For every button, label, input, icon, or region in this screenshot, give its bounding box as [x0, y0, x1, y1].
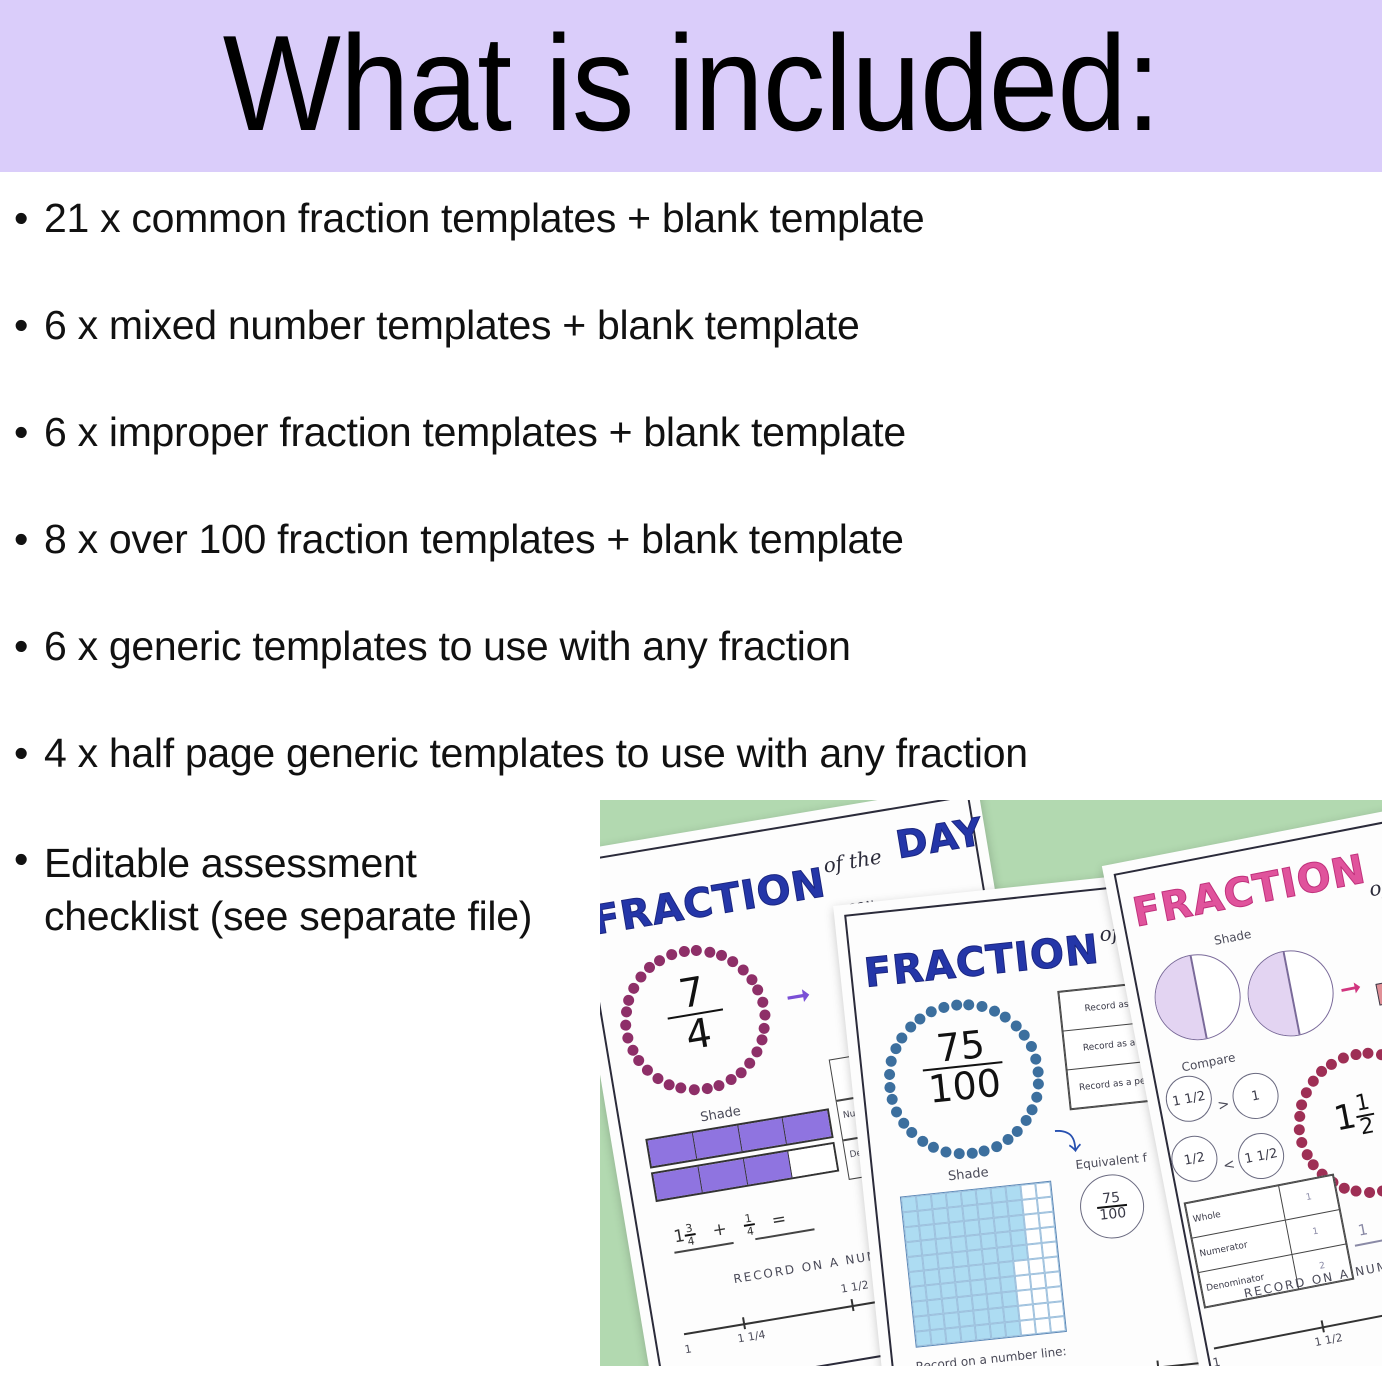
grid-cell [997, 1246, 1013, 1262]
grid-cell [932, 1208, 948, 1224]
grid-cell [939, 1267, 955, 1283]
bead-dot [884, 1081, 896, 1093]
curved-arrow-icon: ⤵ [1054, 1127, 1083, 1156]
sheet1-eq-b-den: 4 [744, 1225, 757, 1238]
bullet-marker: • [14, 837, 44, 883]
grid-cell [1016, 1289, 1032, 1305]
bead-dot [688, 1083, 701, 1096]
bullet-marker: • [14, 303, 44, 349]
grid-cell [995, 1231, 1011, 1247]
grid-cell [1005, 1321, 1021, 1337]
grid-cell [934, 1223, 950, 1239]
grid-cell [1020, 1183, 1036, 1199]
grid-cell [990, 1186, 1006, 1202]
grid-cell [1030, 1273, 1046, 1289]
grid-cell [957, 1296, 973, 1312]
bead-dot [634, 971, 647, 984]
photo-inner: FRACTION of the DAY CON PROP 7 4 ➞ Shade [600, 800, 1382, 1366]
list-item: • 6 x generic templates to use with any … [14, 624, 1194, 670]
grid-cell [937, 1252, 953, 1268]
grid-cell [998, 1261, 1014, 1277]
bead-dot [703, 946, 716, 959]
grid-cell [1012, 1245, 1028, 1261]
grid-cell [1034, 1318, 1050, 1334]
bead-dot [904, 1021, 916, 1033]
bead-dot [1030, 1053, 1042, 1065]
grid-cell [950, 1236, 966, 1252]
grid-cell [1028, 1258, 1044, 1274]
grid-cell [983, 1263, 999, 1279]
sheet3-fraction: 1 1 2 [1330, 1091, 1378, 1144]
grid-cell [927, 1299, 943, 1315]
bead-dot [940, 1145, 952, 1157]
bead-dot [925, 1006, 937, 1018]
grid-cell [1013, 1260, 1029, 1276]
bead-dot [1018, 1029, 1030, 1041]
grid-cell [936, 1238, 952, 1254]
grid-cell [1048, 1301, 1064, 1317]
grid-cell [958, 1311, 974, 1327]
grid-cell [977, 1203, 993, 1219]
grid-cell [909, 1270, 925, 1286]
bead-dot [886, 1094, 898, 1106]
bead-dot [1349, 1048, 1362, 1061]
bead-dot [1375, 1048, 1382, 1061]
sheet3-fraction-denominator: 2 [1356, 1115, 1378, 1140]
grid-cell [921, 1239, 937, 1255]
bead-dot [715, 949, 728, 962]
grid-cell [1018, 1304, 1034, 1320]
grid-cell [925, 1284, 941, 1300]
bullet-marker: • [14, 410, 44, 456]
grid-cell [922, 1254, 938, 1270]
grid-cell [919, 1224, 935, 1240]
bead-dot [916, 1135, 928, 1147]
sheet2-eqv-den: 100 [1097, 1206, 1129, 1223]
bead-dot [1337, 1052, 1350, 1065]
grid-cell [1037, 1197, 1053, 1213]
grid-cell [955, 1281, 971, 1297]
grid-cell [915, 1330, 931, 1346]
list-item-label: 6 x mixed number templates + blank templ… [44, 303, 860, 349]
bead-dot [620, 1006, 633, 1019]
bead-dot [976, 1001, 988, 1013]
bead-dot [1030, 1091, 1042, 1103]
bead-dot [675, 1082, 688, 1095]
bead-dot [1338, 1181, 1351, 1194]
grid-cell [1027, 1243, 1043, 1259]
bullet-marker: • [14, 624, 44, 670]
bead-dot [620, 1019, 633, 1032]
bead-dot [1296, 1136, 1309, 1149]
page-title: What is included: [222, 15, 1159, 151]
grid-cell [969, 1264, 985, 1280]
grid-cell [901, 1196, 917, 1212]
grid-cell [979, 1218, 995, 1234]
bead-dot [623, 993, 636, 1006]
bead-dot [1293, 1123, 1306, 1136]
bead-dot [627, 982, 640, 995]
grid-cell [952, 1251, 968, 1267]
grid-cell [1033, 1303, 1049, 1319]
grid-cell [1007, 1200, 1023, 1216]
grid-cell [947, 1206, 963, 1222]
grid-cell [1049, 1316, 1065, 1332]
grid-cell [967, 1249, 983, 1265]
grid-cell [1043, 1256, 1059, 1272]
grid-cell [982, 1248, 998, 1264]
grid-cell [973, 1309, 989, 1325]
list-item-label: 6 x generic templates to use with any fr… [44, 624, 851, 670]
list-item-label: 21 x common fraction templates + blank t… [44, 196, 924, 242]
bead-dot [1025, 1041, 1037, 1053]
bead-dot [654, 954, 667, 967]
grid-cell [940, 1282, 956, 1298]
bead-dot [950, 999, 962, 1011]
grid-cell [990, 1322, 1006, 1338]
grid-cell [975, 1324, 991, 1340]
product-photo: FRACTION of the DAY CON PROP 7 4 ➞ Shade [600, 800, 1382, 1366]
grid-cell [1020, 1319, 1036, 1335]
grid-cell [924, 1269, 940, 1285]
bead-dot [756, 996, 769, 1009]
grid-cell [949, 1221, 965, 1237]
grid-cell [1005, 1185, 1021, 1201]
sheet1-eq-equals: = [770, 1209, 787, 1231]
grid-cell [988, 1307, 1004, 1323]
bead-dot [966, 1147, 978, 1159]
grid-cell [1009, 1215, 1025, 1231]
bead-dot [641, 1064, 654, 1077]
list-item: • 8 x over 100 fraction templates + blan… [14, 517, 1194, 563]
grid-cell [1015, 1274, 1031, 1290]
bullet-marker: • [14, 731, 44, 777]
grid-cell [904, 1226, 920, 1242]
bead-dot [914, 1013, 926, 1025]
grid-cell [910, 1285, 926, 1301]
grid-cell [980, 1233, 996, 1249]
grid-cell [964, 1219, 980, 1235]
grid-cell [928, 1314, 944, 1330]
list-item-label: Editable assessment checklist (see separ… [44, 837, 574, 942]
grid-cell [1035, 1182, 1051, 1198]
bullet-marker: • [14, 196, 44, 242]
grid-cell [931, 1193, 947, 1209]
bead-dot [758, 1009, 771, 1022]
bead-dot [988, 1005, 1000, 1017]
grid-cell [943, 1312, 959, 1328]
bead-dot [663, 1078, 676, 1091]
list-item: • 6 x improper fraction templates + blan… [14, 410, 1194, 456]
bead-dot [991, 1140, 1003, 1152]
grid-cell [1025, 1228, 1041, 1244]
grid-cell [954, 1266, 970, 1282]
bead-dot [1032, 1065, 1044, 1077]
bead-dot [1362, 1047, 1375, 1060]
sheet1-eq-plus: + [711, 1219, 728, 1241]
bead-dot [700, 1082, 713, 1095]
grid-cell [917, 1209, 933, 1225]
bead-dot [626, 1044, 639, 1057]
bead-dot [690, 944, 703, 957]
grid-cell [992, 1201, 1008, 1217]
list-item-label: 8 x over 100 fraction templates + blank … [44, 517, 904, 563]
grid-cell [972, 1294, 988, 1310]
sheet2-fraction-denominator: 100 [923, 1063, 1007, 1109]
bead-dot [1363, 1186, 1376, 1199]
bead-dot [1300, 1086, 1313, 1099]
bead-dot [1000, 1011, 1012, 1023]
sheet2-hundred-grid [900, 1181, 1067, 1348]
list-item: • Editable assessment checklist (see sep… [14, 837, 574, 942]
bead-dot [1295, 1098, 1308, 1111]
header-band: What is included: [0, 0, 1382, 172]
bead-dot [928, 1141, 940, 1153]
grid-cell [1045, 1271, 1061, 1287]
grid-cell [1038, 1212, 1054, 1228]
bead-dot [1032, 1078, 1044, 1090]
bead-dot [978, 1145, 990, 1157]
bead-dot [758, 1021, 771, 1034]
slide-page: What is included: • 21 x common fraction… [0, 0, 1382, 1382]
bead-dot [1307, 1075, 1320, 1088]
bead-dot [737, 963, 750, 976]
bead-dot [890, 1043, 902, 1055]
bead-dot [896, 1032, 908, 1044]
sheet1-eq-a-den: 4 [685, 1235, 698, 1248]
grid-cell [1046, 1286, 1062, 1302]
bead-dot [886, 1055, 898, 1067]
grid-cell [1001, 1291, 1017, 1307]
bead-dot [891, 1106, 903, 1118]
grid-cell [942, 1297, 958, 1313]
bead-dot [1325, 1058, 1338, 1071]
bead-dot [651, 1072, 664, 1085]
bead-dot [937, 1002, 949, 1014]
grid-cell [946, 1191, 962, 1207]
grid-cell [907, 1256, 923, 1272]
grid-cell [976, 1188, 992, 1204]
sheet2-fraction: 75 100 [919, 1023, 1007, 1109]
list-item-label: 6 x improper fraction templates + blank … [44, 410, 906, 456]
bead-dot [963, 999, 975, 1011]
bead-dot [953, 1147, 965, 1159]
grid-cell [1042, 1241, 1058, 1257]
list-item: • 6 x mixed number templates + blank tem… [14, 303, 1194, 349]
list-item: • 4 x half page generic templates to use… [14, 731, 1194, 777]
grid-cell [1000, 1276, 1016, 1292]
bead-dot [665, 948, 678, 961]
bead-dot [1350, 1185, 1363, 1198]
grid-cell [1040, 1227, 1056, 1243]
bead-dot [1293, 1110, 1306, 1123]
grid-cell [994, 1216, 1010, 1232]
grid-cell [912, 1300, 928, 1316]
grid-cell [914, 1315, 930, 1331]
grid-cell [970, 1279, 986, 1295]
list-item: • 21 x common fraction templates + blank… [14, 196, 1194, 242]
grid-cell [1023, 1213, 1039, 1229]
bullet-marker: • [14, 517, 44, 563]
grid-cell [906, 1241, 922, 1257]
grid-cell [903, 1211, 919, 1227]
bead-dot [622, 1032, 635, 1045]
grid-cell [916, 1194, 932, 1210]
bead-dot [884, 1068, 896, 1080]
bead-dot [755, 1034, 768, 1047]
list-item-label: 4 x half page generic templates to use w… [44, 731, 1028, 777]
grid-cell [985, 1278, 1001, 1294]
grid-cell [962, 1205, 978, 1221]
grid-cell [1022, 1198, 1038, 1214]
bead-dot [752, 984, 765, 997]
right-arrow-icon: ➞ [1337, 973, 1363, 1003]
grid-cell [1003, 1306, 1019, 1322]
grid-cell [945, 1327, 961, 1343]
right-arrow-icon: ➞ [784, 980, 814, 1014]
bead-dot [906, 1127, 918, 1139]
grid-cell [1031, 1288, 1047, 1304]
grid-cell [1010, 1230, 1026, 1246]
grid-cell [930, 1329, 946, 1345]
grid-cell [961, 1190, 977, 1206]
grid-cell [965, 1234, 981, 1250]
grid-cell [987, 1292, 1003, 1308]
grid-cell [960, 1325, 976, 1341]
bead-dot [678, 945, 691, 958]
